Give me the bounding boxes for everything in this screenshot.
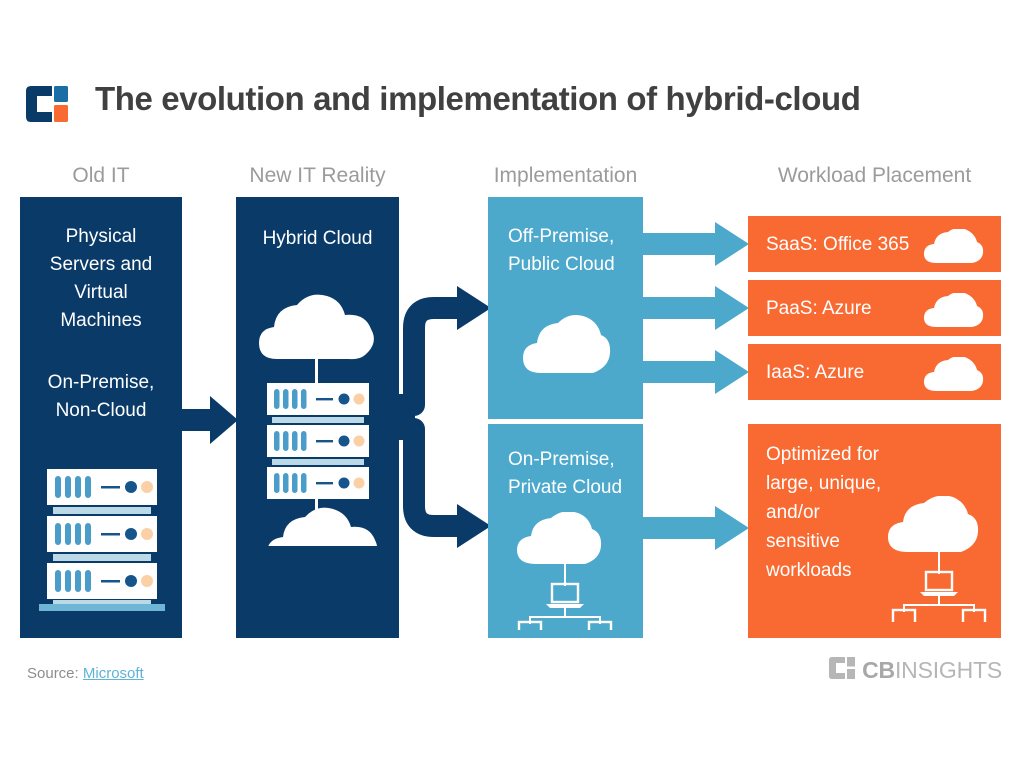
workload-card-paas-label: PaaS: Azure	[766, 295, 872, 323]
column-header-workload-placement: Workload Placement	[748, 164, 1001, 188]
cb-insights-wordmark: CBINSIGHTS	[862, 657, 1002, 684]
panel-old-it-heading: Physical Servers and Virtual Machines	[20, 223, 182, 335]
page-title: The evolution and implementation of hybr…	[95, 80, 860, 118]
arrow-old-to-new	[180, 396, 240, 444]
panel-new-it-reality: Hybrid Cloud	[236, 197, 399, 638]
arrow-to-saas	[643, 222, 751, 266]
workload-card-optimized-label: Optimized for large, unique, and/or sens…	[766, 440, 881, 585]
source-link-microsoft[interactable]: Microsoft	[83, 665, 144, 682]
panel-old-it: Physical Servers and Virtual Machines On…	[20, 197, 182, 638]
cloud-network-laptops-icon	[883, 496, 993, 627]
cb-insights-footer-logo: CBINSIGHTS	[829, 657, 1002, 683]
panel-private-cloud: On-Premise, Private Cloud	[488, 424, 643, 638]
cloud-icon	[923, 293, 985, 334]
workload-card-saas-label: SaaS: Office 365	[766, 231, 909, 259]
cb-insights-logo-icon	[26, 86, 68, 122]
panel-public-cloud-heading: Off-Premise, Public Cloud	[508, 223, 615, 279]
panel-private-cloud-heading: On-Premise, Private Cloud	[508, 446, 622, 502]
column-header-old-it: Old IT	[20, 164, 182, 188]
panel-new-it-heading: Hybrid Cloud	[236, 225, 399, 253]
arrow-to-paas	[643, 286, 751, 330]
cb-insights-logo-icon	[829, 657, 855, 684]
cb-insights-wordmark-light: INSIGHTS	[895, 657, 1002, 683]
source-note: Source: Microsoft	[27, 665, 144, 682]
cloud-server-cloud-icon	[249, 291, 386, 551]
cloud-icon	[923, 357, 985, 398]
server-rack-icon	[39, 469, 165, 616]
arrow-to-optimized	[643, 506, 751, 550]
workload-card-iaas[interactable]: IaaS: Azure	[748, 344, 1001, 400]
page-header: The evolution and implementation of hybr…	[0, 0, 1024, 150]
cloud-icon	[521, 315, 611, 382]
workload-card-paas[interactable]: PaaS: Azure	[748, 280, 1001, 336]
source-prefix: Source:	[27, 665, 83, 682]
cloud-network-laptops-icon	[511, 512, 621, 635]
cb-insights-wordmark-bold: CB	[862, 657, 895, 683]
column-header-implementation: Implementation	[488, 164, 643, 188]
workload-card-optimized[interactable]: Optimized for large, unique, and/or sens…	[748, 424, 1001, 638]
arrow-to-iaas	[643, 350, 751, 394]
workload-card-iaas-label: IaaS: Azure	[766, 359, 864, 387]
arrow-branch-navy	[399, 286, 491, 548]
column-header-new-it-reality: New IT Reality	[236, 164, 399, 188]
cloud-icon	[923, 229, 985, 270]
workload-card-saas[interactable]: SaaS: Office 365	[748, 216, 1001, 272]
panel-public-cloud: Off-Premise, Public Cloud	[488, 197, 643, 419]
panel-old-it-subheading: On-Premise, Non-Cloud	[20, 369, 182, 425]
